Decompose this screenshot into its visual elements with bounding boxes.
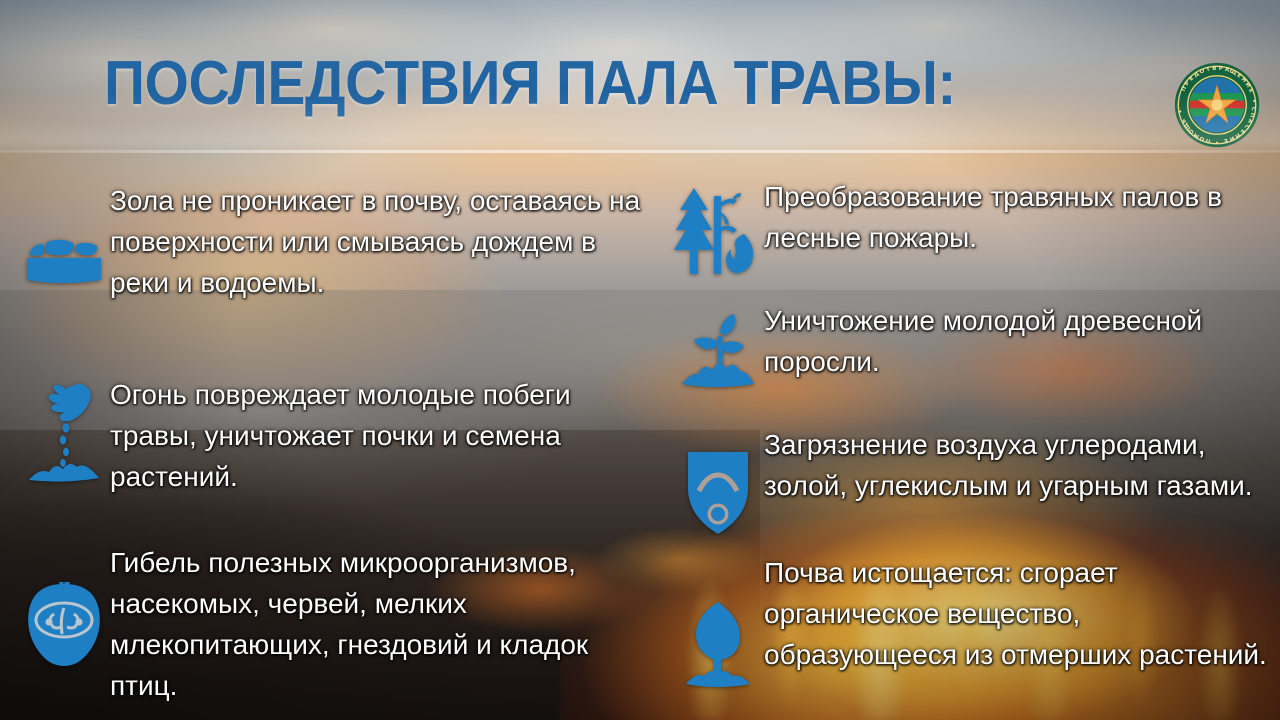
consequence-item: Преобразование травяных палов в лесные п… (672, 176, 1272, 282)
consequence-item: Уничтожение молодой древесной поросли. (672, 300, 1272, 390)
consequence-text: Гибель полезных микроорганизмов, насеком… (110, 542, 646, 706)
consequence-item: Гибель полезных микроорганизмов, насеком… (18, 542, 646, 706)
seedling-sprout-icon (672, 310, 764, 390)
consequence-item: Почва истощается: сгорает органическое в… (672, 552, 1272, 692)
consequence-text: Почва истощается: сгорает органическое в… (764, 552, 1272, 675)
consequence-text: Уничтожение молодой древесной поросли. (764, 300, 1272, 382)
hand-sowing-seeds-icon (18, 382, 110, 486)
consequence-item: Зола не проникает в почву, оставаясь на … (18, 180, 646, 303)
consequence-text: Огонь повреждает молодые побеги травы, у… (110, 374, 618, 497)
bird-nest-with-eggs-icon (18, 580, 110, 672)
consequence-item: Огонь повреждает молодые побеги травы, у… (18, 374, 618, 497)
soil-layers-icon (18, 232, 110, 288)
trees-with-flame-icon (672, 182, 764, 282)
leaf-on-soil-icon (672, 600, 764, 692)
consequence-text: Загрязнение воздуха углеродами, золой, у… (764, 424, 1272, 506)
header-band (0, 0, 1280, 152)
header-divider-rule (0, 150, 1280, 153)
consequence-text: Преобразование травяных палов в лесные п… (764, 176, 1272, 258)
consequence-item: Загрязнение воздуха углеродами, золой, у… (672, 424, 1272, 538)
consequence-text: Зола не проникает в почву, оставаясь на … (110, 180, 646, 303)
header-sheen (0, 0, 1280, 152)
gas-mask-icon (672, 448, 764, 538)
content-area: Зола не проникает в почву, оставаясь на … (0, 152, 1280, 720)
infographic-poster: ПОСЛЕДСТВИЯ ПАЛА ТРАВЫ: П Р Е Д (0, 0, 1280, 720)
